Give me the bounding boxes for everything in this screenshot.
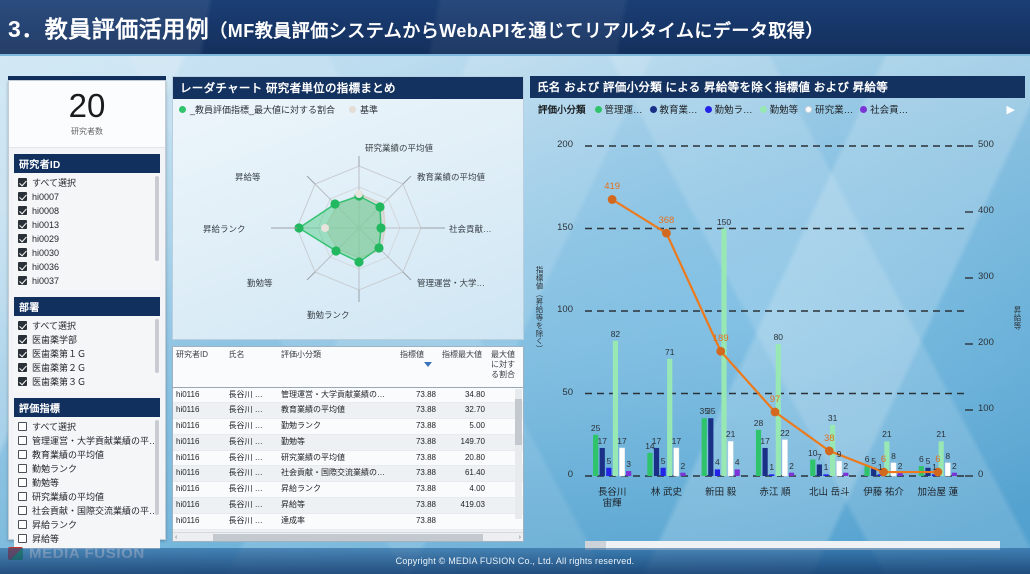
table-cell: 昇給ランク	[278, 482, 397, 498]
table-cell: hi0116	[173, 513, 226, 529]
table-cell: hi0116	[173, 403, 226, 419]
filter-option-label: hi0030	[32, 246, 59, 260]
checkbox-icon[interactable]	[18, 464, 27, 473]
scroll-left-icon[interactable]: ‹	[175, 534, 177, 541]
table-cell: 管理運営・大学貢献業績の…	[278, 387, 397, 403]
table-cell: 長谷川 …	[226, 482, 279, 498]
filter-option[interactable]: すべて選択	[18, 319, 160, 333]
filter-option[interactable]: すべて選択	[18, 420, 160, 434]
checkbox-icon[interactable]	[18, 422, 27, 431]
table-column-header[interactable]: 最大値に対する割合	[488, 347, 523, 387]
table-cell: 教育業績の平均値	[278, 403, 397, 419]
table-cell: 4.00	[439, 482, 488, 498]
x-axis-category-label: 赤江 順	[748, 488, 802, 499]
table-cell: hi0116	[173, 450, 226, 466]
table-column-header[interactable]: 氏名	[226, 347, 279, 387]
page-title-main: 3．教員評価活用例	[8, 16, 209, 42]
legend-swatch-icon	[760, 106, 767, 113]
radar-axis-label-research: 研究業績の平均値	[365, 142, 433, 154]
table-vscroll-thumb[interactable]	[515, 399, 522, 445]
checkbox-icon[interactable]	[18, 321, 27, 330]
sort-descending-icon[interactable]	[424, 362, 432, 367]
filter-option-label: すべて選択	[32, 420, 76, 434]
detail-table: 研究者ID氏名評価小分類指標値指標最大値最大値に対する割合 hi0116長谷川 …	[173, 347, 523, 542]
chart-legend-items: 管理運…教育業…勤勉ラ…勤勉等研究業…社会貢…	[595, 102, 916, 116]
table-cell: 73.88	[397, 466, 439, 482]
filter-option-label: hi0037	[32, 274, 59, 288]
radar-axis-label-social: 社会貢献…	[449, 223, 492, 235]
filter-option-label: 医歯薬学部	[32, 333, 77, 347]
table-horizontal-scrollbar[interactable]: ‹ ›	[173, 532, 523, 541]
chart-legend-label: 管理運…	[605, 102, 643, 116]
table-header-row: 研究者ID氏名評価小分類指標値指標最大値最大値に対する割合	[173, 347, 523, 387]
checkbox-icon[interactable]	[18, 450, 27, 459]
checkbox-icon[interactable]	[18, 178, 27, 187]
table-cell: 61.40	[439, 466, 488, 482]
chart-legend: 評価小分類 管理運…教育業…勤勉ラ…勤勉等研究業…社会貢… ▶	[530, 98, 1025, 116]
y2-axis-tick: 300	[978, 271, 994, 282]
table-cell: 勤勉等	[278, 434, 397, 450]
checkbox-icon[interactable]	[18, 234, 27, 243]
chart-legend-label: 勤勉等	[770, 102, 799, 116]
y2-axis-tick: 500	[978, 139, 994, 150]
kpi-card: 20 研究者数	[9, 81, 165, 148]
legend-swatch-icon	[595, 106, 602, 113]
kpi-label: 研究者数	[13, 126, 161, 137]
table-cell: hi0116	[173, 419, 226, 435]
table-cell: 長谷川 …	[226, 403, 279, 419]
checkbox-icon[interactable]	[18, 478, 27, 487]
radar-axis-label-shoukyu: 昇給等	[235, 171, 261, 183]
x-axis-category-label: 北山 岳斗	[802, 488, 856, 499]
bar-value-label: 28	[745, 418, 773, 428]
table-cell: 20.80	[439, 450, 488, 466]
bar-value-label: 22	[771, 428, 799, 438]
table-row[interactable]: hi0116長谷川 …研究業績の平均値73.8820.80	[173, 450, 523, 466]
bar-value-label: 82	[601, 329, 629, 339]
bar-value-label: 21	[873, 429, 901, 439]
filter-option[interactable]: 教育業績の平均値	[18, 448, 160, 462]
filter-option-label: 勤勉等	[32, 476, 59, 490]
chart-legend-item-1[interactable]: 教育業…	[650, 102, 698, 116]
table-row[interactable]: hi0116長谷川 …勤勉等73.88149.70	[173, 434, 523, 450]
bar-value-label: 150	[710, 217, 738, 227]
chart-legend-item-0[interactable]: 管理運…	[595, 102, 643, 116]
chart-legend-item-4[interactable]: 研究業…	[805, 102, 853, 116]
legend-next-icon[interactable]: ▶	[1007, 103, 1015, 116]
table-cell: hi0116	[173, 387, 226, 403]
table-cell: 長谷川 …	[226, 419, 279, 435]
table-cell: 73.88	[397, 498, 439, 514]
table-cell: 34.80	[439, 387, 488, 403]
scroll-right-icon[interactable]: ›	[519, 534, 521, 541]
y2-axis-tick: 100	[978, 403, 994, 414]
y2-axis-tick: 400	[978, 205, 994, 216]
bar-value-label: 17	[662, 436, 690, 446]
table-vertical-scrollbar[interactable]	[515, 389, 522, 519]
checkbox-icon[interactable]	[18, 335, 27, 344]
footer: Copyright © MEDIA FUSION Co., Ltd. All r…	[0, 548, 1030, 574]
bar-value-label: 9	[825, 449, 853, 459]
filter-option-list: すべて選択医歯薬学部医歯薬第１Ｇ医歯薬第２Ｇ医歯薬第３Ｇ	[14, 316, 160, 392]
checkbox-icon[interactable]	[18, 492, 27, 501]
legend-swatch-icon	[650, 106, 657, 113]
filter-group-title: 部署	[14, 297, 160, 316]
radar-axis-label-kinben-rank: 勤勉ランク	[307, 309, 350, 321]
filter-option-label: hi0008	[32, 204, 59, 218]
page-title-sub: （MF教員評価システムからWebAPIを通じてリアルタイムにデータ取得）	[209, 21, 824, 41]
chart-legend-label: 社会貢…	[870, 102, 908, 116]
checkbox-icon[interactable]	[18, 220, 27, 229]
bar-value-label: 2	[778, 461, 806, 471]
filter-option-label: 医歯薬第１Ｇ	[32, 347, 86, 361]
filter-option-list: すべて選択hi0007hi0008hi0013hi0029hi0030hi003…	[14, 173, 160, 291]
table-row[interactable]: hi0116長谷川 …管理運営・大学貢献業績の…73.8834.80	[173, 387, 523, 403]
table-row[interactable]: hi0116長谷川 …達成率73.88	[173, 513, 523, 529]
line-value-label: 6	[918, 454, 958, 465]
slide-title-band: 3．教員評価活用例（MF教員評価システムからWebAPIを通じてリアルタイムにデ…	[0, 0, 1030, 56]
table-cell: hi0116	[173, 498, 226, 514]
line-value-label: 189	[701, 333, 741, 344]
line-value-label: 368	[646, 215, 686, 226]
filter-option-label: hi0013	[32, 218, 59, 232]
radar-axis-label-management: 管理運営・大学…	[417, 277, 485, 289]
bar-chart-panel: 氏名 および 評価小分類 による 昇給等を除く指標値 および 昇給等 評価小分類…	[530, 76, 1025, 542]
legend-swatch-icon	[805, 106, 812, 113]
checkbox-icon[interactable]	[18, 520, 27, 529]
table-column-header[interactable]: 指標最大値	[439, 347, 488, 387]
table-cell: 長谷川 …	[226, 387, 279, 403]
slide-root: 3．教員評価活用例（MF教員評価システムからWebAPIを通じてリアルタイムにデ…	[0, 0, 1030, 574]
filter-option-label: hi0036	[32, 260, 59, 274]
filter-option-label: hi0007	[32, 190, 59, 204]
table-cell: 149.70	[439, 434, 488, 450]
table-cell: 達成率	[278, 513, 397, 529]
filter-option-label: 勤勉ランク	[32, 462, 77, 476]
radar-chart-panel: レーダチャート 研究者単位の指標まとめ _教員評価指標_最大値に対する割合 基準	[172, 76, 524, 340]
table-column-header[interactable]: 指標値	[397, 347, 439, 387]
bar-value-label: 71	[656, 347, 684, 357]
filter-list-scrollbar[interactable]	[155, 420, 159, 515]
filter-sidebar: 20 研究者数 研究者IDすべて選択hi0007hi0008hi0013hi00…	[8, 80, 166, 540]
y-axis-tick: 150	[530, 222, 573, 233]
chart-legend-item-2[interactable]: 勤勉ラ…	[705, 102, 753, 116]
filter-group-title: 評価指標	[14, 398, 160, 417]
radar-axis-label-education: 教育業績の平均値	[417, 171, 485, 183]
table-cell: 長谷川 …	[226, 513, 279, 529]
x-axis-category-label: 林 武史	[639, 488, 693, 499]
filter-option[interactable]: すべて選択	[18, 176, 160, 190]
y-axis-tick: 50	[530, 387, 573, 398]
legend-swatch-icon	[705, 106, 712, 113]
filter-option[interactable]: hi0030	[18, 246, 160, 260]
checkbox-icon[interactable]	[18, 436, 27, 445]
filter-option[interactable]: 勤勉ランク	[18, 462, 160, 476]
table-cell: 73.88	[397, 419, 439, 435]
table-cell: hi0116	[173, 466, 226, 482]
bar-value-label: 80	[764, 332, 792, 342]
chart-plot-area: 指標値（昇給等を除く） 昇給等 050100150200010020030040…	[530, 116, 1025, 548]
table-row[interactable]: hi0116長谷川 …昇給等73.88419.03	[173, 498, 523, 514]
x-axis-category-label: 長谷川 宙輝	[585, 488, 639, 510]
checkbox-icon[interactable]	[18, 192, 27, 201]
checkbox-icon[interactable]	[18, 363, 27, 372]
table-cell: 長谷川 …	[226, 434, 279, 450]
table-cell: 73.88	[397, 450, 439, 466]
checkbox-icon[interactable]	[18, 377, 27, 386]
table-cell: 長谷川 …	[226, 466, 279, 482]
filter-option-label: 社会貢献・国際交流業績の平…	[32, 504, 158, 518]
bar-value-label: 21	[717, 429, 745, 439]
table-cell: 73.88	[397, 434, 439, 450]
table-column-header[interactable]: 研究者ID	[173, 347, 226, 387]
table-row[interactable]: hi0116長谷川 …社会貢献・国際交流業績の…73.8861.40	[173, 466, 523, 482]
chart-panel-title: 氏名 および 評価小分類 による 昇給等を除く指標値 および 昇給等	[530, 76, 1025, 98]
filter-option[interactable]: hi0007	[18, 190, 160, 204]
bar-value-label: 25	[582, 423, 610, 433]
table-cell: hi0116	[173, 434, 226, 450]
table-cell: 73.88	[397, 403, 439, 419]
table-cell: 勤勉ランク	[278, 419, 397, 435]
filter-option-label: 研究業績の平均値	[32, 490, 104, 504]
y-axis-tick: 100	[530, 304, 573, 315]
table-body: hi0116長谷川 …管理運営・大学貢献業績の…73.8834.80hi0116…	[173, 387, 523, 542]
page-title: 3．教員評価活用例（MF教員評価システムからWebAPIを通じてリアルタイムにデ…	[0, 10, 824, 44]
filter-option[interactable]: 医歯薬学部	[18, 333, 160, 347]
filter-option-label: 医歯薬第２Ｇ	[32, 361, 86, 375]
y2-axis-tick: 200	[978, 337, 994, 348]
filter-option[interactable]: 研究業績の平均値	[18, 490, 160, 504]
filter-option[interactable]: 医歯薬第２Ｇ	[18, 361, 160, 375]
filter-option-label: すべて選択	[32, 319, 76, 333]
x-axis-category-label: 伊藤 祐介	[856, 488, 910, 499]
bar-value-label: 31	[819, 413, 847, 423]
chart-legend-label: 研究業…	[815, 102, 853, 116]
table-row[interactable]: hi0116長谷川 …教育業績の平均値73.8832.70	[173, 403, 523, 419]
table-cell	[439, 513, 488, 529]
line-value-label: 419	[592, 181, 632, 192]
x-axis-category-label: 新田 毅	[694, 488, 748, 499]
filter-option[interactable]: hi0013	[18, 218, 160, 232]
filter-option-list: すべて選択管理運営・大学貢献業績の平…教育業績の平均値勤勉ランク勤勉等研究業績の…	[14, 417, 160, 549]
table-cell: 73.88	[397, 482, 439, 498]
table-cell: 32.70	[439, 403, 488, 419]
filter-list-scrollbar[interactable]	[155, 319, 159, 374]
radar-axis-label-kinben: 勤勉等	[247, 277, 273, 289]
filter-option-label: 管理運営・大学貢献業績の平…	[32, 434, 158, 448]
filter-option-label: hi0029	[32, 232, 59, 246]
kpi-value: 20	[13, 89, 161, 124]
table-hscroll-thumb[interactable]	[213, 534, 483, 541]
filter-option[interactable]: hi0037	[18, 274, 160, 288]
filter-option[interactable]: 昇給ランク	[18, 518, 160, 532]
checkbox-icon[interactable]	[18, 262, 27, 271]
chart-legend-item-3[interactable]: 勤勉等	[760, 102, 799, 116]
chart-legend-item-5[interactable]: 社会貢…	[860, 102, 908, 116]
filter-groups: 研究者IDすべて選択hi0007hi0008hi0013hi0029hi0030…	[9, 154, 165, 549]
radar-axis-label-shoukyu-rank: 昇給ランク	[203, 223, 246, 235]
copyright-text: Copyright © MEDIA FUSION Co., Ltd. All r…	[396, 556, 635, 566]
bar-value-label: 17	[608, 436, 636, 446]
filter-group-title: 研究者ID	[14, 154, 160, 173]
chart-legend-title: 評価小分類	[538, 102, 586, 116]
checkbox-icon[interactable]	[18, 506, 27, 515]
table-cell: hi0116	[173, 482, 226, 498]
y-axis-tick: 200	[530, 139, 573, 150]
radar-panel-title: レーダチャート 研究者単位の指標まとめ	[173, 77, 523, 99]
filter-option[interactable]: 管理運営・大学貢献業績の平…	[18, 434, 160, 448]
filter-option-label: 医歯薬第３Ｇ	[32, 375, 86, 389]
legend-swatch-icon	[860, 106, 867, 113]
bar-value-label: 2	[669, 461, 697, 471]
filter-option[interactable]: 勤勉等	[18, 476, 160, 490]
line-value-label: 97	[755, 394, 795, 405]
checkbox-icon[interactable]	[18, 206, 27, 215]
filter-option[interactable]: 医歯薬第１Ｇ	[18, 347, 160, 361]
table-cell: 社会貢献・国際交流業績の…	[278, 466, 397, 482]
bar-value-label: 21	[927, 429, 955, 439]
detail-table-panel: 研究者ID氏名評価小分類指標値指標最大値最大値に対する割合 hi0116長谷川 …	[172, 346, 524, 542]
table-cell: 73.88	[397, 513, 439, 529]
filter-list-scrollbar[interactable]	[155, 176, 159, 261]
checkbox-icon[interactable]	[18, 276, 27, 285]
filter-option[interactable]: hi0036	[18, 260, 160, 274]
filter-option[interactable]: hi0029	[18, 232, 160, 246]
chart-legend-label: 教育業…	[660, 102, 698, 116]
y2-axis-tick: 0	[978, 469, 983, 480]
table-cell: 研究業績の平均値	[278, 450, 397, 466]
line-value-label: 6	[864, 454, 904, 465]
y-axis-tick: 0	[530, 469, 573, 480]
table-column-header[interactable]: 評価小分類	[278, 347, 397, 387]
chart-legend-label: 勤勉ラ…	[715, 102, 753, 116]
x-axis-category-label: 加治屋 蓮	[911, 488, 965, 499]
checkbox-icon[interactable]	[18, 248, 27, 257]
y2-axis-title: 昇給等	[1012, 306, 1023, 330]
table-row[interactable]: hi0116長谷川 …昇給ランク73.884.00	[173, 482, 523, 498]
checkbox-icon[interactable]	[18, 349, 27, 358]
bar-value-label: 35	[697, 406, 725, 416]
bar-value-label: 4	[723, 457, 751, 467]
filter-option-label: すべて選択	[32, 176, 76, 190]
filter-group-0: 研究者IDすべて選択hi0007hi0008hi0013hi0029hi0030…	[14, 154, 160, 291]
radar-plot: 研究業績の平均値 教育業績の平均値 社会貢献… 管理運営・大学… 勤勉ランク 勤…	[173, 116, 525, 348]
table-cell: 419.03	[439, 498, 488, 514]
table-cell: 長谷川 …	[226, 498, 279, 514]
filter-option[interactable]: 社会貢献・国際交流業績の平…	[18, 504, 160, 518]
table-row[interactable]: hi0116長谷川 …勤勉ランク73.885.00	[173, 419, 523, 435]
filter-group-2: 評価指標すべて選択管理運営・大学貢献業績の平…教育業績の平均値勤勉ランク勤勉等研…	[14, 398, 160, 549]
filter-option-label: 教育業績の平均値	[32, 448, 104, 462]
table-cell: 長谷川 …	[226, 450, 279, 466]
filter-option-label: 昇給ランク	[32, 518, 77, 532]
line-value-label: 38	[809, 433, 849, 444]
table-cell: 5.00	[439, 419, 488, 435]
bar-value-label: 3	[615, 459, 643, 469]
filter-group-1: 部署すべて選択医歯薬学部医歯薬第１Ｇ医歯薬第２Ｇ医歯薬第３Ｇ	[14, 297, 160, 392]
filter-option[interactable]: 医歯薬第３Ｇ	[18, 375, 160, 389]
table-cell: 73.88	[397, 387, 439, 403]
filter-option[interactable]: hi0008	[18, 204, 160, 218]
table-cell: 昇給等	[278, 498, 397, 514]
